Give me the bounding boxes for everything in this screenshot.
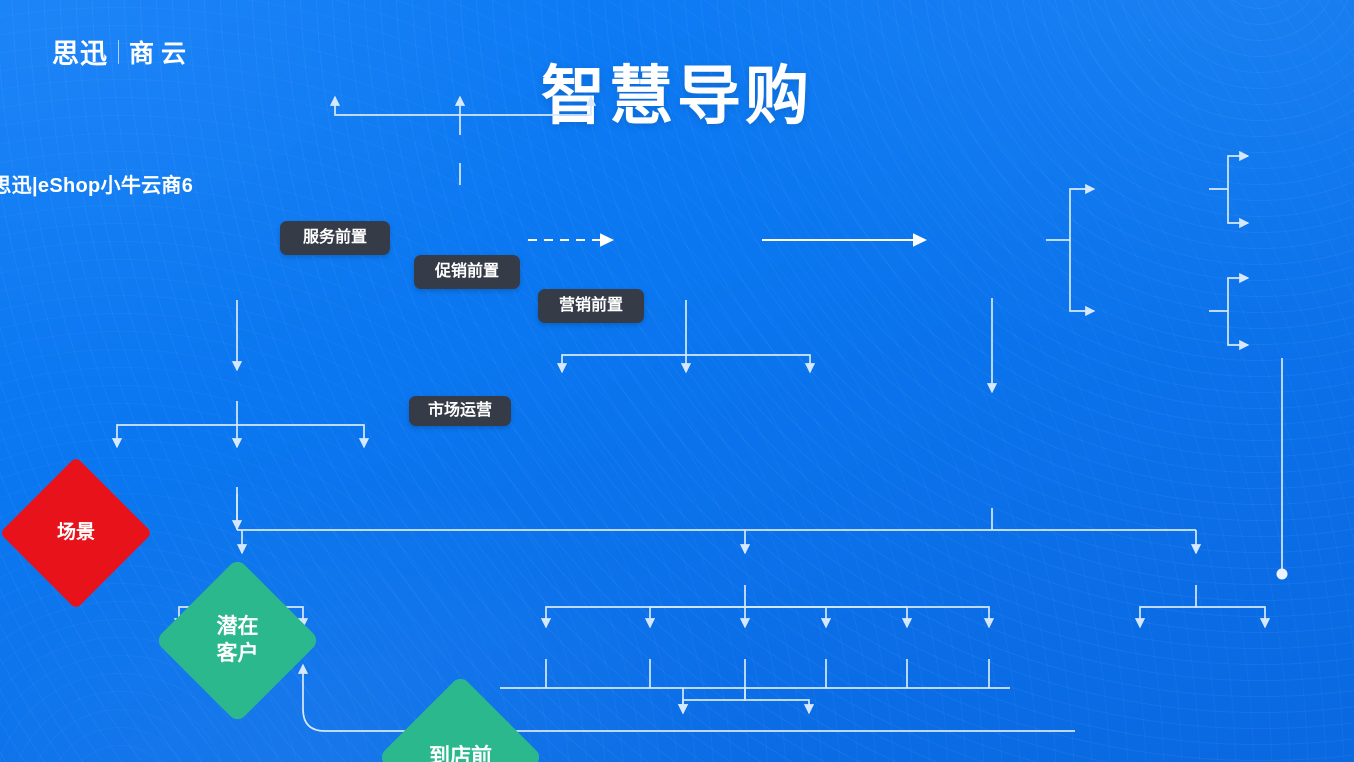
diamond-potential-customer[interactable]: 潜在 客户 <box>179 582 296 699</box>
product-brand-text: 思迅|eShop小牛云商6 <box>0 169 193 198</box>
product-brand: 🐮 思迅|eShop小牛云商6 <box>0 169 1310 198</box>
diamond-scene-label: 场景 <box>57 521 95 545</box>
page-title-text: 智慧导购 <box>541 60 813 132</box>
top-box-marketing-label: 营销前置 <box>559 296 623 316</box>
slide-canvas: 思迅 商云 智慧导购 🐮 思迅|eShop小牛云商6 <box>0 0 1354 762</box>
diamond-before-store-label: 到店前 <box>429 744 492 762</box>
top-box-market-operation[interactable]: 市场运营 <box>409 396 511 426</box>
diamond-before-store[interactable]: 到店前 <box>402 699 519 762</box>
top-box-promotion-label: 促销前置 <box>435 262 499 282</box>
top-box-marketing[interactable]: 营销前置 <box>538 289 644 323</box>
top-box-service-label: 服务前置 <box>303 228 367 248</box>
page-title: 智慧导购 <box>0 45 1354 137</box>
diamond-scene[interactable]: 场景 <box>22 479 130 587</box>
top-box-market-operation-label: 市场运营 <box>428 401 492 421</box>
top-box-service[interactable]: 服务前置 <box>280 221 390 255</box>
top-box-promotion[interactable]: 促销前置 <box>414 255 520 289</box>
diamond-potential-customer-label: 潜在 客户 <box>217 614 259 666</box>
